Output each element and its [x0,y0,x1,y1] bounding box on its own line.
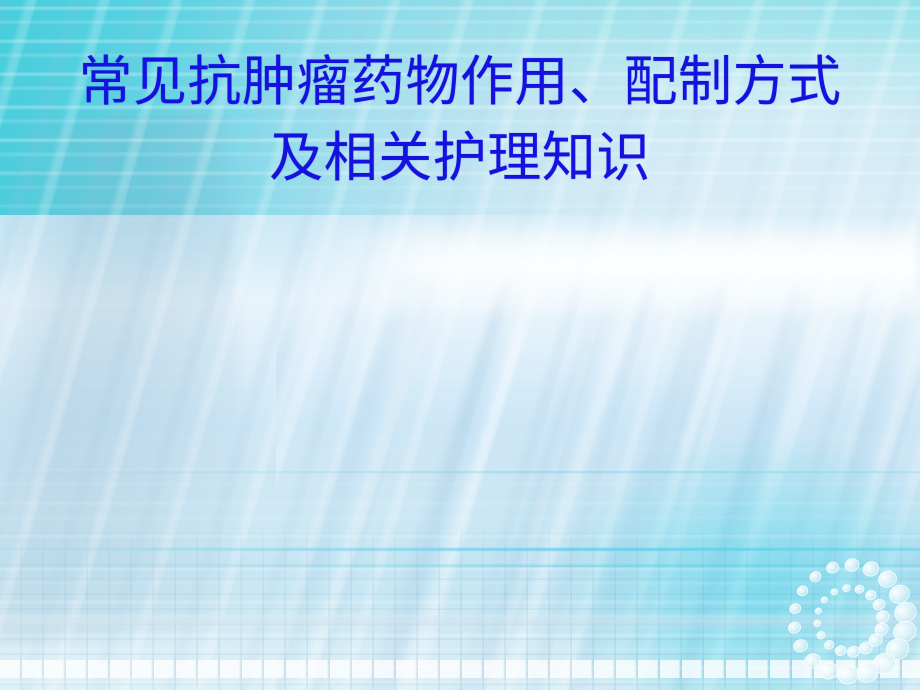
dot-ring-inner [813,584,891,660]
ring-dot [818,660,841,681]
slide-title: 常见抗肿瘤药物作用、配制方式 及相关护理知识 [0,44,920,196]
ring-dot [834,644,848,657]
ring-dot [823,639,835,650]
ring-dot [846,645,861,660]
ring-dot [864,589,877,601]
ring-dot [830,588,839,596]
ring-dot [835,663,860,687]
ring-dot [820,596,828,604]
ring-dot [825,560,840,575]
title-slide: 常见抗肿瘤药物作用、配制方式 及相关护理知识 [0,0,920,690]
title-line-2: 及相关护理知识 [0,120,920,196]
ring-dot [803,651,823,670]
ring-dot [814,607,822,615]
ring-dot [796,584,810,597]
ring-dot [787,620,802,635]
ring-dot [854,584,865,595]
dot-ring-ornament [778,546,920,690]
title-line-1: 常见抗肿瘤药物作用、配制方式 [0,44,920,120]
ring-dot [843,557,861,574]
dot-ring-outer [787,557,919,687]
ring-dot [808,570,822,583]
ring-dot [792,638,809,655]
ring-dot [816,630,826,640]
ring-dot [842,584,852,593]
ring-dot [788,602,802,615]
ring-dot [813,619,822,627]
ring-dot [861,559,881,578]
ring-dot [875,609,891,624]
ring-dot [872,598,887,612]
